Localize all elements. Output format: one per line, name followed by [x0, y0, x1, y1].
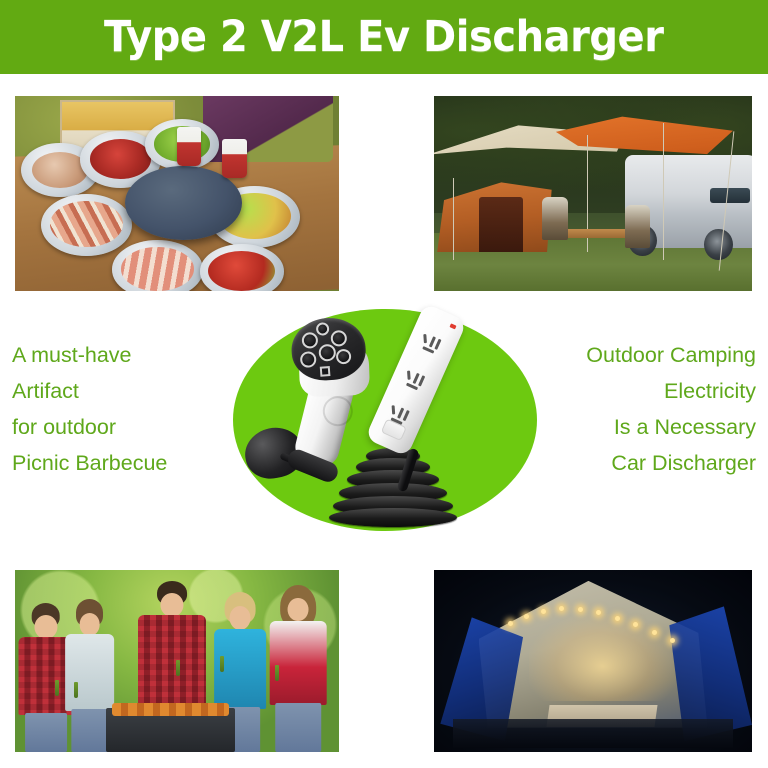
food [121, 247, 194, 290]
drink-bottle [176, 660, 180, 676]
torso [270, 621, 327, 705]
copy-left-line-4: Picnic Barbecue [12, 445, 227, 481]
food [90, 139, 152, 179]
copy-right: Outdoor Camping Electricity Is a Necessa… [526, 337, 756, 481]
header-banner: Type 2 V2L Ev Discharger [0, 0, 768, 74]
head [161, 593, 184, 617]
camper-person [625, 205, 650, 248]
pin-ac [301, 332, 318, 349]
socket-outlet [411, 326, 451, 366]
product-marketing-image: Type 2 V2L Ev Discharger [0, 0, 768, 768]
pin-control [316, 322, 330, 336]
skewers [50, 201, 123, 247]
drink-bottle [220, 656, 224, 672]
head [34, 615, 57, 639]
copy-right-line-1: Outdoor Camping [526, 337, 756, 373]
legs [276, 703, 322, 752]
van-wheel [704, 229, 733, 260]
copy-left-line-2: Artifact [12, 373, 227, 409]
power-led-indicator [449, 323, 456, 329]
copy-right-line-4: Car Discharger [526, 445, 756, 481]
copy-left: A must-have Artifact for outdoor Picnic … [12, 337, 227, 481]
camping-scene [434, 96, 752, 291]
socket-outlet [395, 363, 435, 403]
copy-right-line-3: Is a Necessary [526, 409, 756, 445]
plate [112, 240, 203, 291]
page-title: Type 2 V2L Ev Discharger [104, 12, 663, 62]
camper-person [542, 197, 567, 240]
copy-left-line-1: A must-have [12, 337, 227, 373]
head [230, 606, 251, 630]
tent-door [479, 197, 524, 252]
drink-bottle [55, 680, 59, 696]
product-image-type-2-v2l-ev-discharger [233, 300, 537, 550]
latch-window [320, 366, 331, 377]
person [268, 585, 330, 752]
photo-camping-tarp-van [434, 96, 752, 291]
drink-cup [222, 139, 246, 178]
plate [200, 244, 284, 291]
torso [138, 615, 206, 707]
torso [65, 634, 115, 710]
night-camp-scene [434, 570, 752, 752]
grilling-food [112, 703, 229, 716]
string-lights [504, 603, 688, 658]
photo-night-glamping-tent [434, 570, 752, 752]
pin-ac [336, 349, 352, 365]
copy-right-line-2: Electricity [526, 373, 756, 409]
copy-left-line-3: for outdoor [12, 409, 227, 445]
pin-earth [318, 344, 336, 362]
food [208, 251, 275, 291]
plate-skewers [41, 194, 132, 256]
legs [71, 709, 108, 752]
van-window [710, 188, 750, 203]
head [79, 613, 100, 636]
pin-ac [330, 330, 347, 347]
friends-bbq-scene [15, 570, 339, 752]
tarp-pole [453, 178, 454, 260]
drink-cup [177, 127, 201, 166]
legs [25, 713, 67, 752]
drink-bottle [275, 665, 279, 681]
photo-outdoor-bbq-food-spread [15, 96, 339, 291]
tent-floor [453, 719, 733, 748]
bbq-scene [15, 96, 339, 291]
pin-ac [300, 351, 317, 368]
photo-friends-barbecue [15, 570, 339, 752]
drink-bottle [74, 682, 78, 698]
tarp-pole [663, 123, 664, 260]
